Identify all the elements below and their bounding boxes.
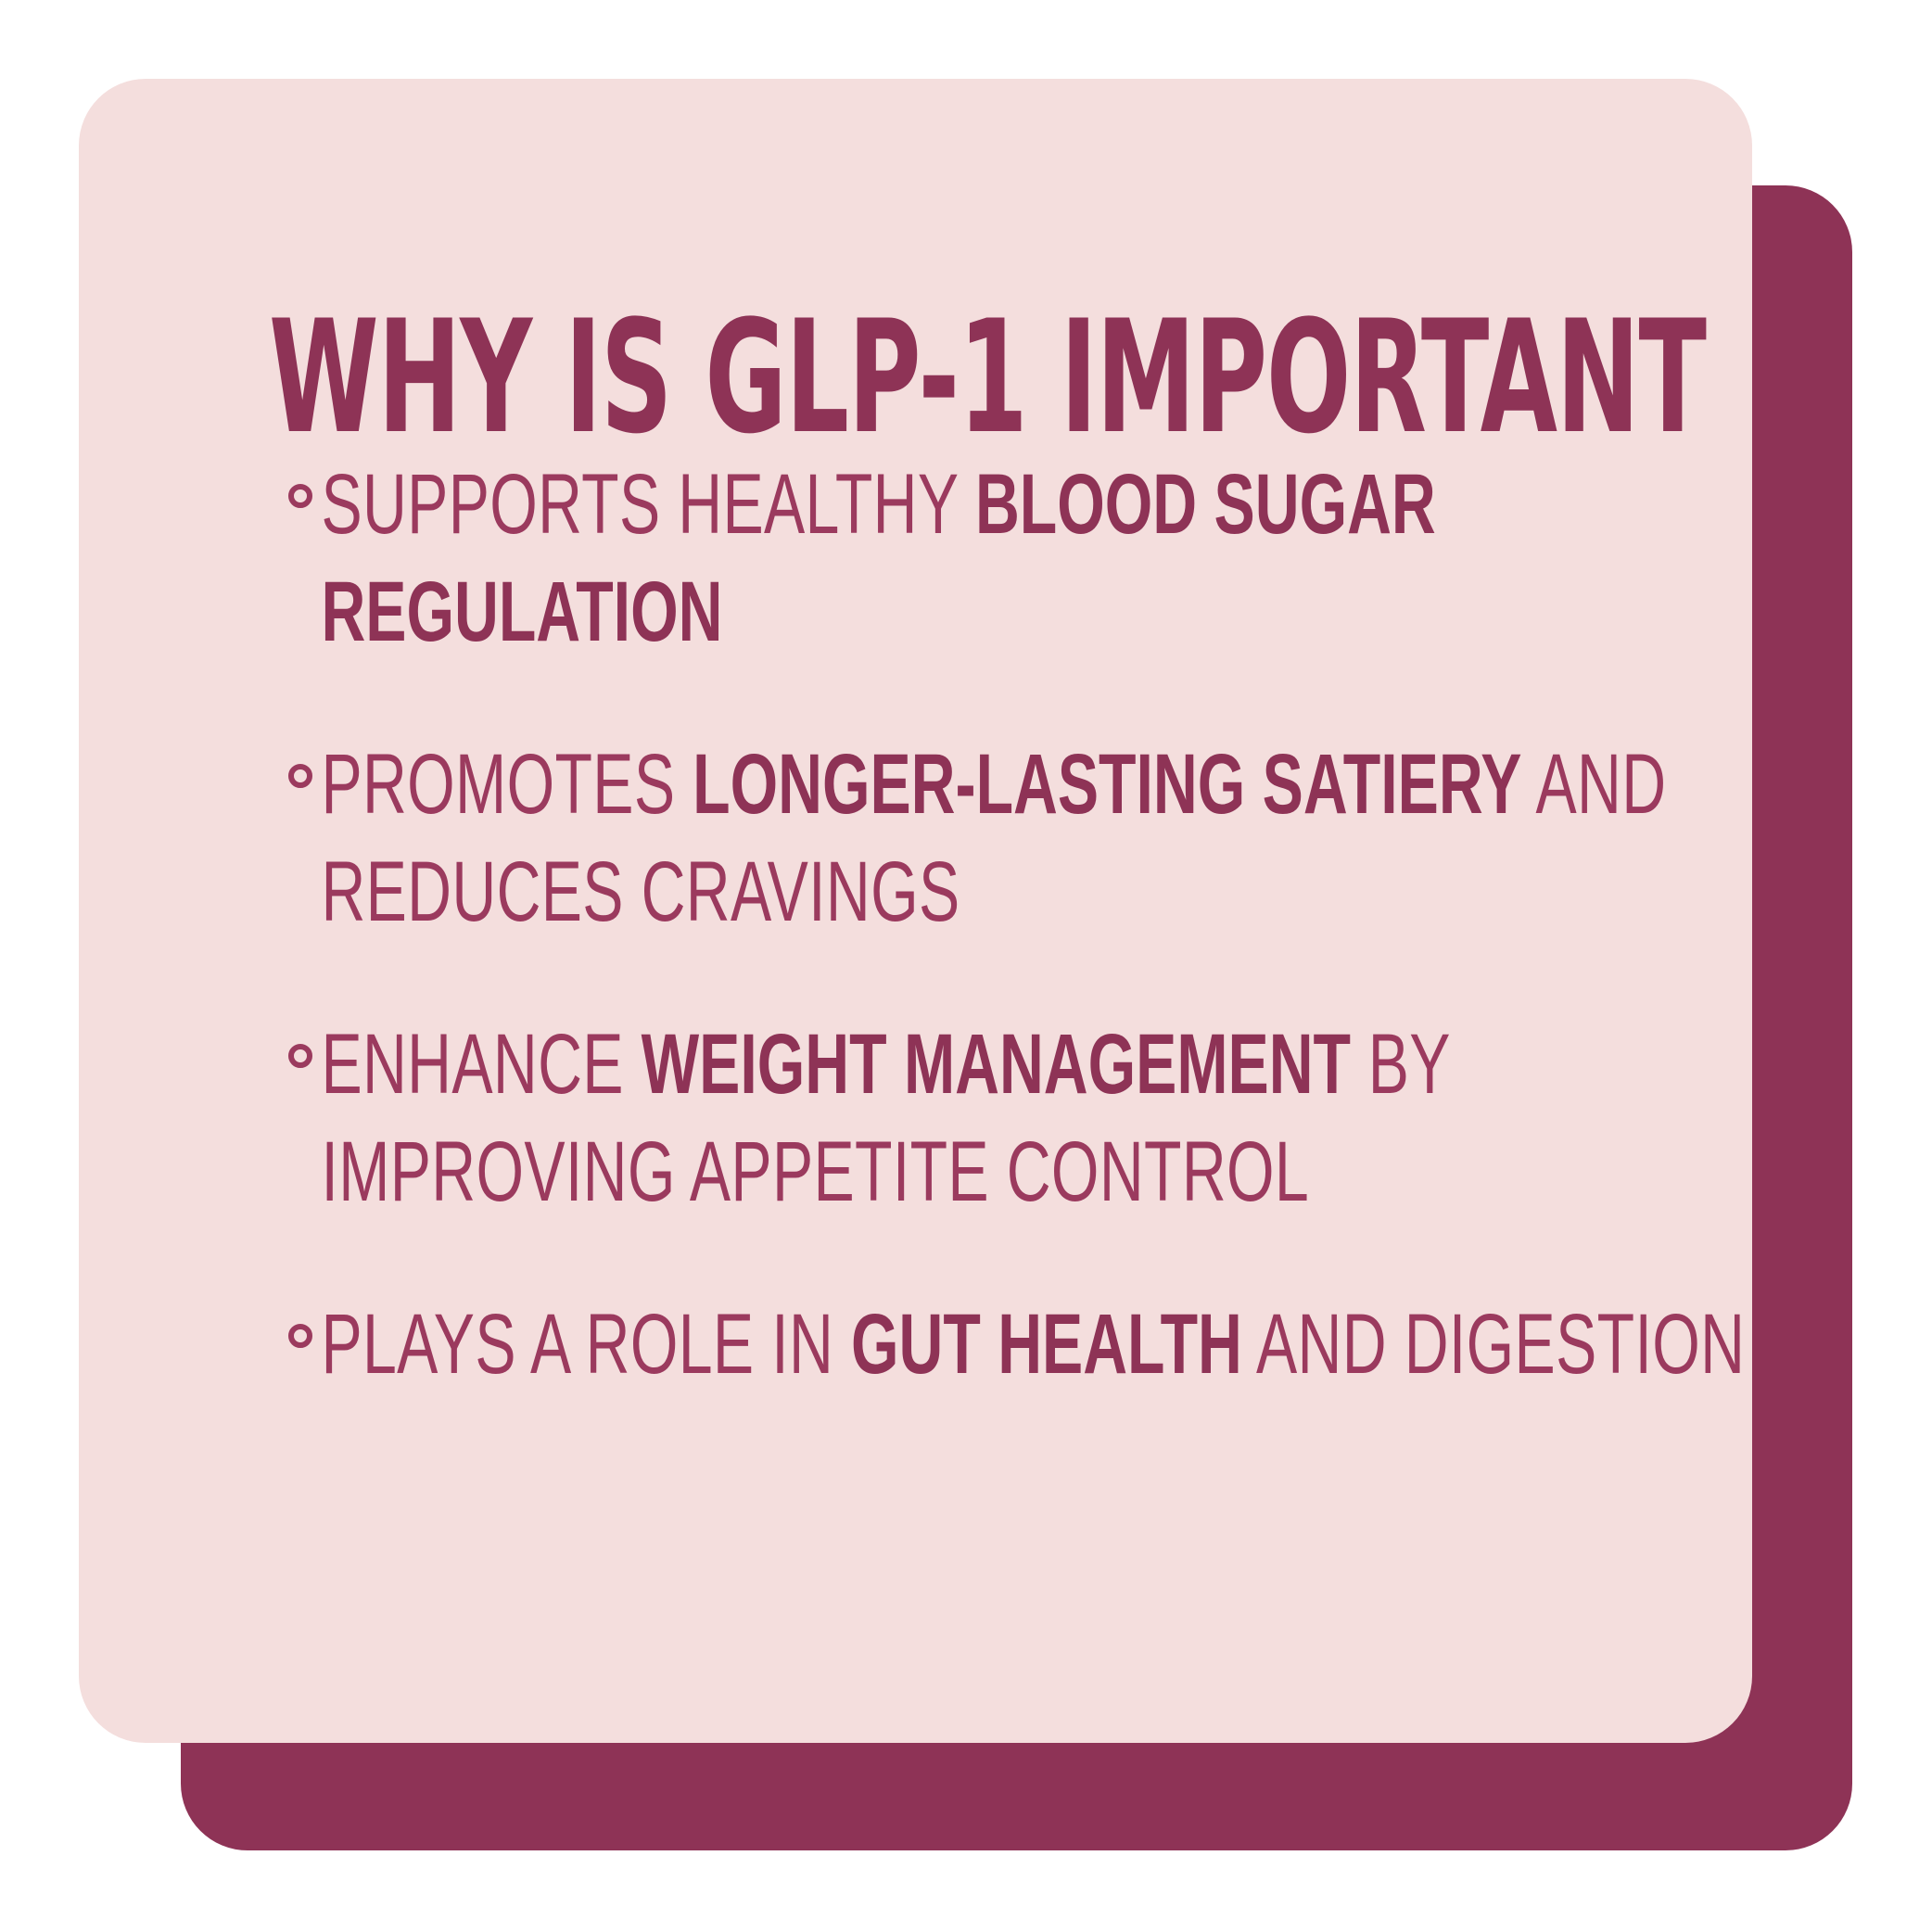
list-item: SUPPORTS HEALTHY BLOOD SUGAR REGULATION [286,451,1752,666]
list-item: ENHANCE WEIGHT MANAGEMENT BY IMPROVING A… [286,1010,1752,1226]
benefits-list: SUPPORTS HEALTHY BLOOD SUGAR REGULATIONP… [249,451,1752,1398]
infographic-canvas: WHY IS GLP-1 IMPORTANT SUPPORTS HEALTHY … [0,0,1932,1932]
plain-text: PROMOTES [321,737,693,832]
plain-text: AND DIGESTION [1242,1297,1745,1392]
emphasis-text: LONGER-LASTING SATIERY [693,737,1521,832]
emphasis-text: WEIGHT MANAGEMENT [642,1017,1351,1112]
list-item-text: SUPPORTS HEALTHY BLOOD SUGAR REGULATION [286,451,1752,666]
list-item-text: PROMOTES LONGER-LASTING SATIERY AND REDU… [286,731,1752,946]
list-item-text: ENHANCE WEIGHT MANAGEMENT BY IMPROVING A… [286,1010,1752,1226]
emphasis-text: GUT HEALTH [851,1297,1242,1392]
list-item: PROMOTES LONGER-LASTING SATIERY AND REDU… [286,731,1752,946]
plain-text: SUPPORTS HEALTHY [321,457,975,552]
info-card: WHY IS GLP-1 IMPORTANT SUPPORTS HEALTHY … [79,79,1752,1743]
list-item-text: PLAYS A ROLE IN GUT HEALTH AND DIGESTION [286,1290,1752,1398]
plain-text: ENHANCE [321,1017,641,1112]
plain-text: PLAYS A ROLE IN [321,1297,851,1392]
page-title: WHY IS GLP-1 IMPORTANT [269,299,1196,455]
list-item: PLAYS A ROLE IN GUT HEALTH AND DIGESTION [286,1290,1752,1398]
